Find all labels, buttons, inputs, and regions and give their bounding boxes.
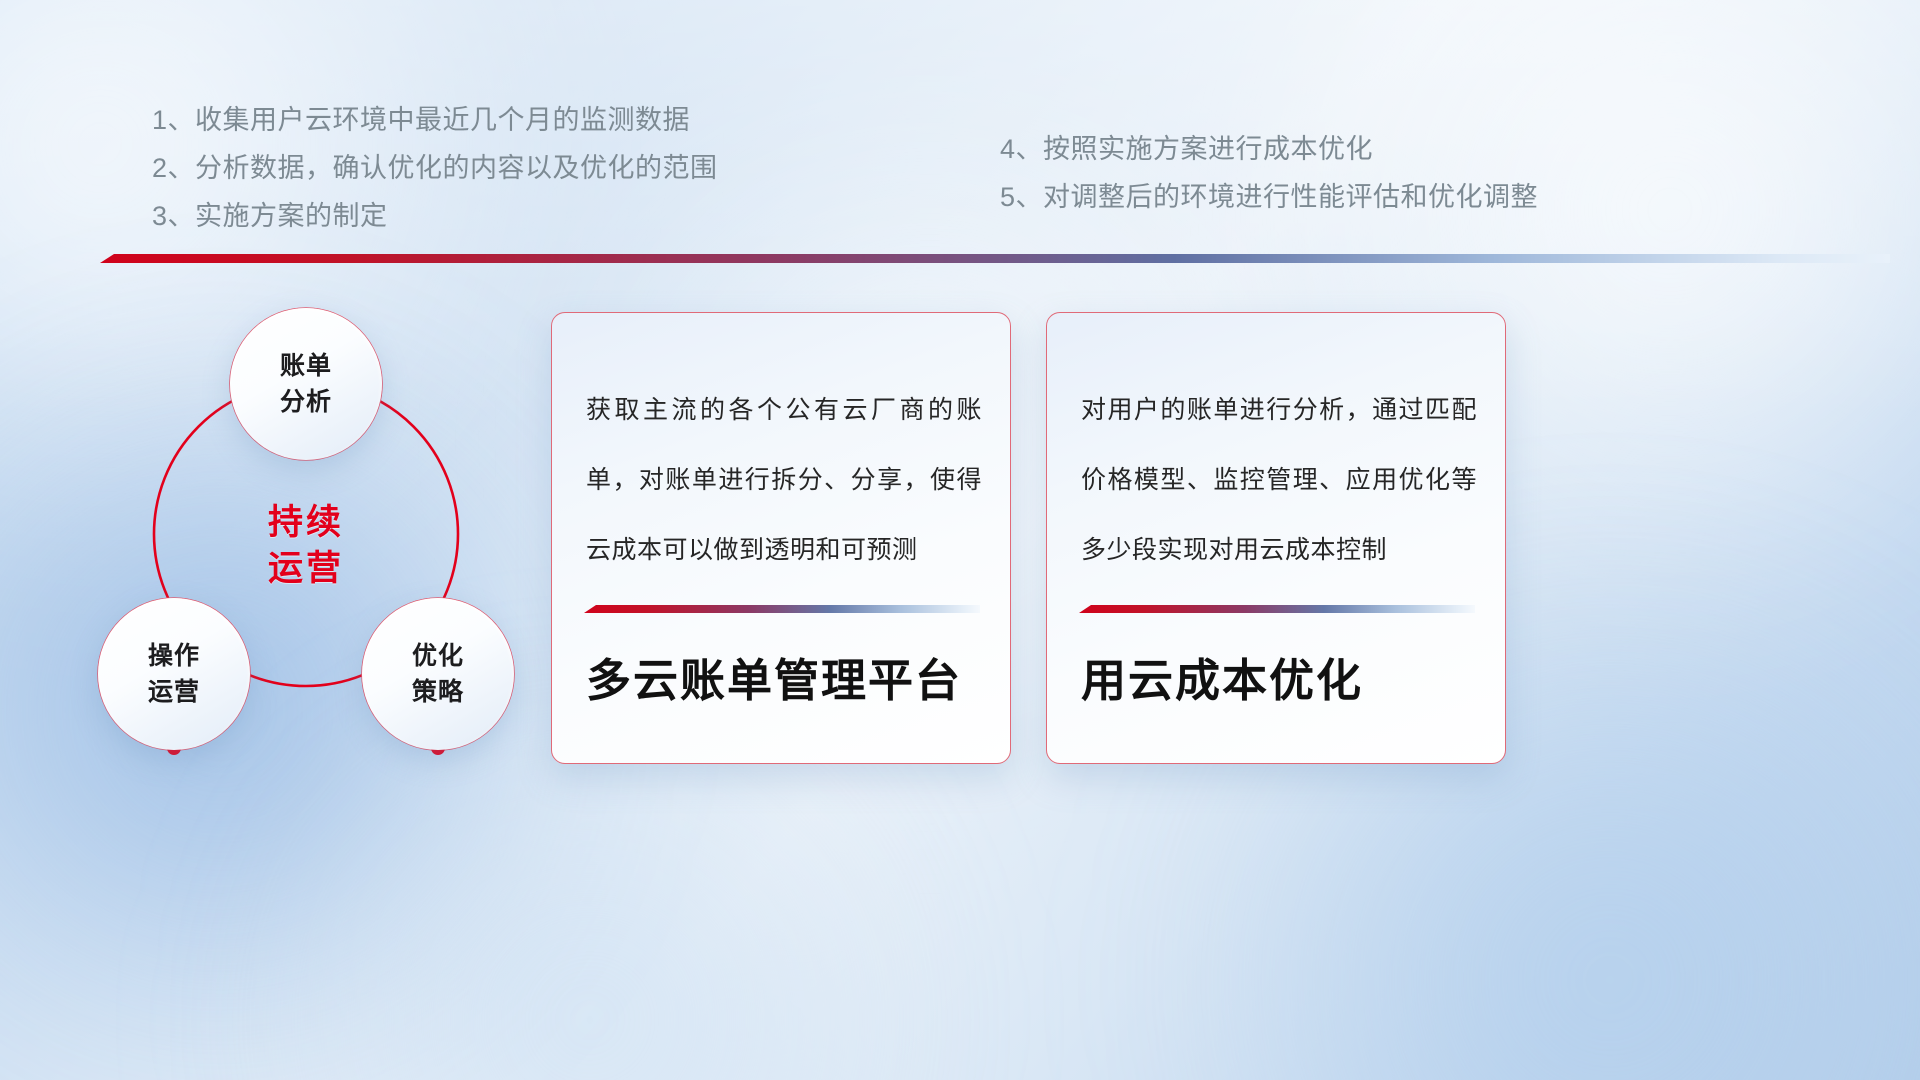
- cycle-node-optimization-strategy[interactable]: 优化 策略: [362, 598, 514, 750]
- card-divider: [584, 605, 980, 613]
- step-item-2: 2、分析数据，确认优化的内容以及优化的范围: [152, 144, 718, 192]
- step-item-4: 4、按照实施方案进行成本优化: [1000, 125, 1538, 173]
- cycle-center-line1: 持续: [268, 500, 344, 546]
- feature-card-billing-platform[interactable]: 获取主流的各个公有云厂商的账单，对账单进行拆分、分享，使得云成本可以做到透明和可…: [551, 312, 1011, 764]
- card-body-text: 获取主流的各个公有云厂商的账单，对账单进行拆分、分享，使得云成本可以做到透明和可…: [586, 375, 982, 585]
- step-item-1: 1、收集用户云环境中最近几个月的监测数据: [152, 96, 718, 144]
- card-body-text: 对用户的账单进行分析，通过匹配价格模型、监控管理、应用优化等多少段实现对用云成本…: [1081, 375, 1477, 585]
- feature-card-cost-optimization[interactable]: 对用户的账单进行分析，通过匹配价格模型、监控管理、应用优化等多少段实现对用云成本…: [1046, 312, 1506, 764]
- card-divider: [1079, 605, 1475, 613]
- step-item-3: 3、实施方案的制定: [152, 192, 718, 240]
- cycle-center-line2: 运营: [268, 546, 344, 592]
- header-divider-bar: [100, 254, 1890, 263]
- cycle-node-label-line1: 账单: [280, 348, 332, 384]
- steps-list-right: 4、按照实施方案进行成本优化 5、对调整后的环境进行性能评估和优化调整: [1000, 125, 1538, 221]
- header-divider: [100, 254, 1890, 263]
- cycle-node-label-line1: 优化: [412, 638, 464, 674]
- cycle-node-operations[interactable]: 操作 运营: [98, 598, 250, 750]
- cycle-node-label-line2: 分析: [280, 384, 332, 420]
- cycle-node-label: 操作 运营: [148, 638, 200, 710]
- card-title: 多云账单管理平台: [586, 651, 982, 711]
- cycle-node-label: 优化 策略: [412, 638, 464, 710]
- step-item-5: 5、对调整后的环境进行性能评估和优化调整: [1000, 173, 1538, 221]
- cycle-node-label-line2: 策略: [412, 674, 464, 710]
- card-title: 用云成本优化: [1081, 651, 1477, 711]
- cycle-node-label-line1: 操作: [148, 638, 200, 674]
- cycle-diagram: 账单 分析 操作 运营 优化 策略 持续 运营: [90, 290, 560, 770]
- cycle-node-label-line2: 运营: [148, 674, 200, 710]
- cycle-node-billing-analysis[interactable]: 账单 分析: [230, 308, 382, 460]
- steps-list-left: 1、收集用户云环境中最近几个月的监测数据 2、分析数据，确认优化的内容以及优化的…: [152, 96, 718, 240]
- cycle-center-label: 持续 运营: [196, 486, 416, 606]
- cycle-center-text: 持续 运营: [268, 500, 344, 592]
- cycle-node-label: 账单 分析: [280, 348, 332, 420]
